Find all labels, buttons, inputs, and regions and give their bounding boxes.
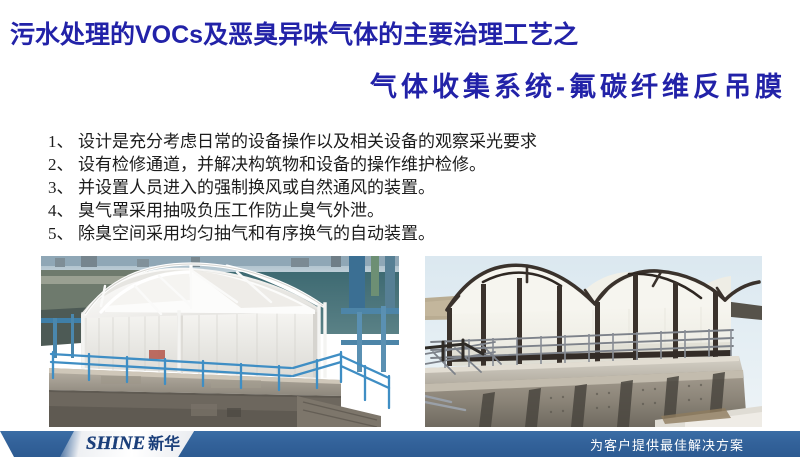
list-item: 4、 臭气罩采用抽吸负压工作防止臭气外泄。 xyxy=(48,199,768,222)
list-item: 2、 设有检修通道，并解决构筑物和设备的操作维护检修。 xyxy=(48,153,768,176)
list-item-number: 2、 xyxy=(48,153,78,176)
list-item-number: 3、 xyxy=(48,176,78,199)
footer-corner-notch xyxy=(0,431,14,457)
slide-title-line-2: 气体收集系统-氟碳纤维反吊膜 xyxy=(370,68,786,106)
photo-membrane-cover-right xyxy=(425,256,762,427)
brand-logo-shine-text: SHINE xyxy=(86,434,145,454)
photo-membrane-cover-left xyxy=(41,256,399,427)
footer-bar: SHINE 新华 为客户提供最佳解决方案 xyxy=(0,431,800,457)
list-item-number: 5、 xyxy=(48,222,78,245)
list-item-label: 并设置人员进入的强制换风或自然通风的装置。 xyxy=(78,176,435,199)
footer-slogan: 为客户提供最佳解决方案 xyxy=(590,431,744,457)
list-item-label: 臭气罩采用抽吸负压工作防止臭气外泄。 xyxy=(78,199,384,222)
list-item: 3、 并设置人员进入的强制换风或自然通风的装置。 xyxy=(48,176,768,199)
list-item-number: 4、 xyxy=(48,199,78,222)
list-item-label: 设计是充分考虑日常的设备操作以及相关设备的观察采光要求 xyxy=(78,130,537,153)
brand-logo: SHINE 新华 xyxy=(60,431,194,457)
slide-title-line-1: 污水处理的VOCs及恶臭异味气体的主要治理工艺之 xyxy=(10,19,710,51)
photo-right-graphic xyxy=(425,256,762,427)
list-item-label: 设有检修通道，并解决构筑物和设备的操作维护检修。 xyxy=(78,153,486,176)
list-item-label: 除臭空间采用均匀抽气和有序换气的自动装置。 xyxy=(78,222,435,245)
bullet-list: 1、 设计是充分考虑日常的设备操作以及相关设备的观察采光要求 2、 设有检修通道… xyxy=(48,130,768,245)
list-item-number: 1、 xyxy=(48,130,78,153)
list-item: 5、 除臭空间采用均匀抽气和有序换气的自动装置。 xyxy=(48,222,768,245)
list-item: 1、 设计是充分考虑日常的设备操作以及相关设备的观察采光要求 xyxy=(48,130,768,153)
brand-logo-chinese-text: 新华 xyxy=(148,434,180,454)
slide-canvas: { "slide": { "title_line1": "污水处理的VOCs及恶… xyxy=(0,0,800,457)
photo-left-graphic xyxy=(41,256,399,427)
